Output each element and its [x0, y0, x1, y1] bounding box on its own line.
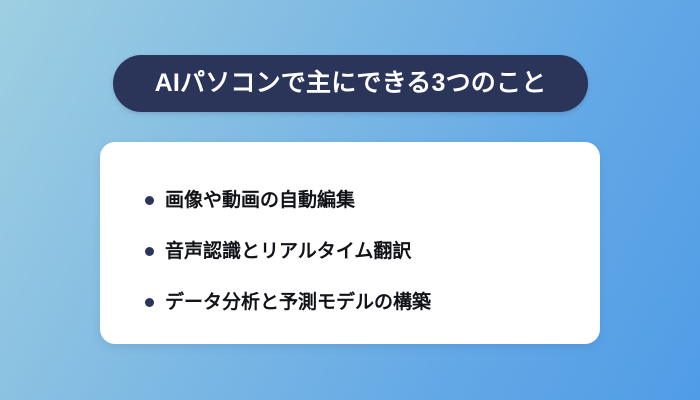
list-item: 画像や動画の自動編集: [100, 175, 600, 226]
bullet-list: 画像や動画の自動編集 音声認識とリアルタイム翻訳 データ分析と予測モデルの構築: [100, 175, 600, 328]
title-pill: AIパソコンで主にできる3つのこと: [113, 55, 588, 112]
list-item-label: データ分析と予測モデルの構築: [165, 293, 431, 312]
list-item-label: 音声認識とリアルタイム翻訳: [165, 242, 411, 261]
list-item: 音声認識とリアルタイム翻訳: [100, 226, 600, 277]
content-card: 画像や動画の自動編集 音声認識とリアルタイム翻訳 データ分析と予測モデルの構築: [100, 142, 600, 344]
page-title: AIパソコンで主にできる3つのこと: [155, 71, 547, 96]
slide-canvas: AIパソコンで主にできる3つのこと 画像や動画の自動編集 音声認識とリアルタイム…: [0, 0, 700, 400]
bullet-dot-icon: [145, 196, 154, 205]
bullet-dot-icon: [145, 247, 154, 256]
list-item: データ分析と予測モデルの構築: [100, 277, 600, 328]
list-item-label: 画像や動画の自動編集: [165, 191, 355, 210]
bullet-dot-icon: [145, 298, 154, 307]
